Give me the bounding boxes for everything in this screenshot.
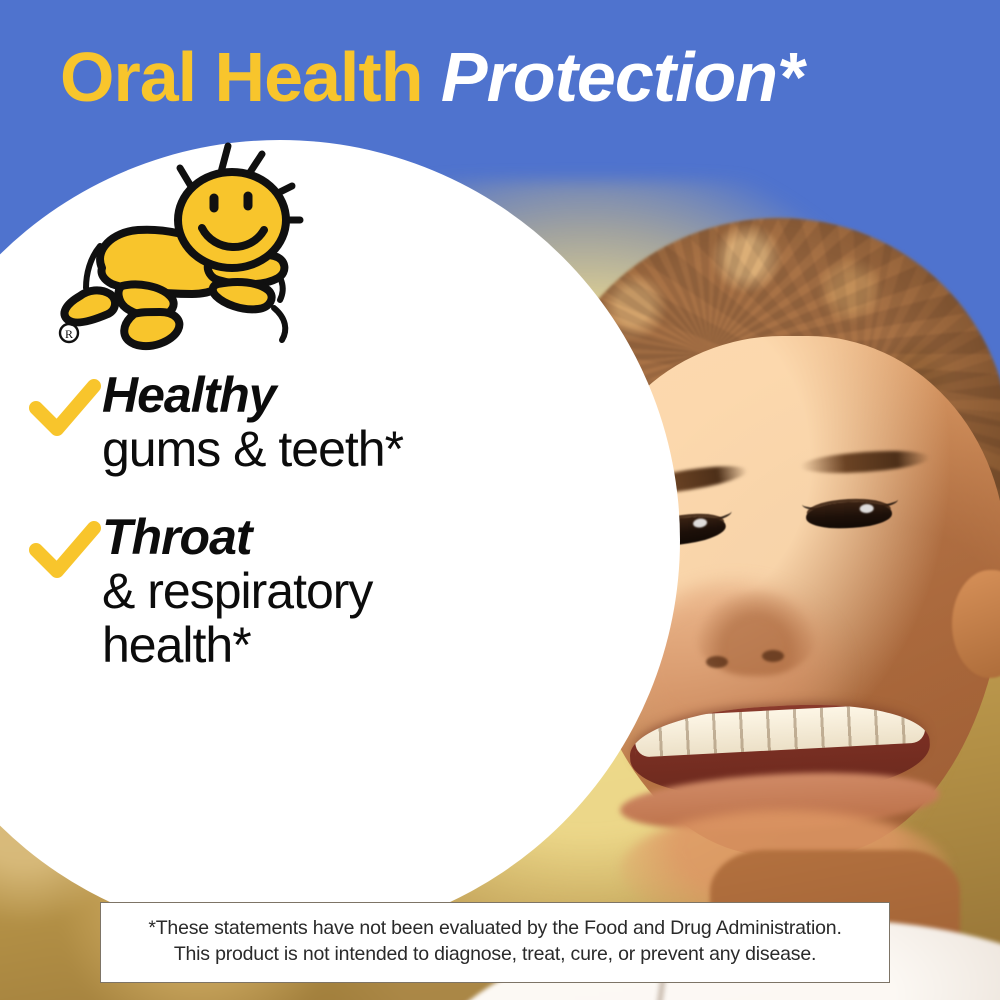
headline-secondary: Protection <box>441 38 777 116</box>
benefit-text: Healthy gums & teeth* <box>102 368 403 476</box>
benefit-list: Healthy gums & teeth* Throat & respirato… <box>28 368 548 706</box>
benefit-emphasis: Healthy <box>102 368 403 422</box>
crawling-baby-logo: R <box>42 128 310 358</box>
page-title: Oral Health Protection* <box>60 42 803 112</box>
headline-primary: Oral Health <box>60 38 422 116</box>
disclaimer-line-2: This product is not intended to diagnose… <box>115 941 875 967</box>
benefit-item-throat-respiratory: Throat & respiratory health* <box>28 510 548 672</box>
benefit-detail-line-1: & respiratory <box>102 564 372 618</box>
benefit-text: Throat & respiratory health* <box>102 510 372 672</box>
check-icon <box>28 378 102 440</box>
child-nostril-left <box>706 656 728 668</box>
benefit-detail-line-2: health* <box>102 618 372 672</box>
promo-image-canvas: Oral Health Protection* <box>0 0 1000 1000</box>
headline-asterisk: * <box>777 38 803 116</box>
eye-glint <box>693 518 708 529</box>
eye-glint <box>859 504 873 514</box>
child-nostril-right <box>762 650 784 662</box>
benefit-item-gums-teeth: Healthy gums & teeth* <box>28 368 548 476</box>
disclaimer-line-1: *These statements have not been evaluate… <box>115 915 875 941</box>
benefit-detail: gums & teeth* <box>102 422 403 476</box>
svg-text:R: R <box>65 327 73 341</box>
registered-trademark-mark: R <box>60 324 78 342</box>
check-icon <box>28 520 102 582</box>
fda-disclaimer-box: *These statements have not been evaluate… <box>100 902 890 983</box>
benefit-emphasis: Throat <box>102 510 372 564</box>
